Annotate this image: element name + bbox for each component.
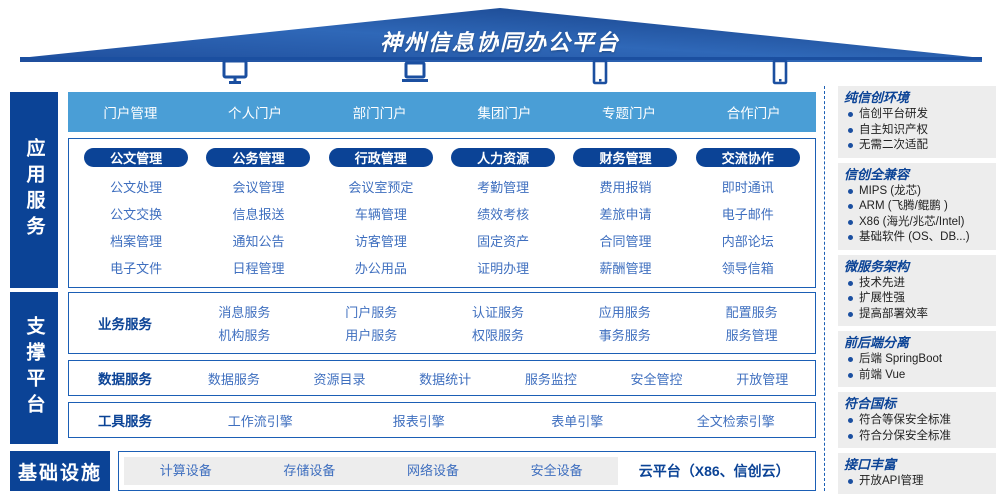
feature-item-4-1: 符合分保安全标准 <box>844 429 991 445</box>
app-item-0-0[interactable]: 公文处理 <box>110 174 162 201</box>
biz-item-0-4[interactable]: 配置服务 <box>688 302 815 321</box>
feature-card-5: 接口丰富 开放API管理 <box>838 453 996 494</box>
smartphone-icon <box>760 59 800 91</box>
app-item-3-1[interactable]: 绩效考核 <box>477 201 529 228</box>
feature-item-text: 自主知识产权 <box>859 123 928 139</box>
app-item-1-2[interactable]: 通知公告 <box>232 228 284 255</box>
data-item-0[interactable]: 数据服务 <box>181 369 287 388</box>
data-item-2[interactable]: 数据统计 <box>392 369 498 388</box>
feature-item-text: 开放API管理 <box>859 474 924 490</box>
feature-title-5: 接口丰富 <box>844 456 991 474</box>
app-item-3-3[interactable]: 证明办理 <box>477 255 529 282</box>
feature-item-text: 信创平台研发 <box>859 107 928 123</box>
app-item-3-2[interactable]: 固定资产 <box>477 228 529 255</box>
app-item-2-1[interactable]: 车辆管理 <box>355 201 407 228</box>
tool-item-3[interactable]: 全文检索引擎 <box>657 411 816 430</box>
biz-item-1-0[interactable]: 机构服务 <box>181 325 308 344</box>
biz-item-0-1[interactable]: 门户服务 <box>308 302 435 321</box>
feature-item-text: 扩展性强 <box>859 291 905 307</box>
biz-item-0-0[interactable]: 消息服务 <box>181 302 308 321</box>
bullet-icon <box>848 128 853 133</box>
device-icon-row <box>85 59 815 91</box>
infra-cloud-platform[interactable]: 云平台（X86、信创云） <box>618 457 810 485</box>
data-item-4[interactable]: 安全管控 <box>604 369 710 388</box>
feature-card-1: 信创全兼容 MIPS (龙芯) ARM (飞腾/鲲鹏 ) X86 (海光/兆芯/… <box>838 163 996 250</box>
app-item-2-0[interactable]: 会议室预定 <box>348 174 413 201</box>
feature-title-0: 纯信创环境 <box>844 89 991 107</box>
business-services-label: 业务服务 <box>69 313 181 333</box>
infrastructure-panel: 计算设备 存储设备 网络设备 安全设备 云平台（X86、信创云） <box>118 451 816 491</box>
portal-item-3[interactable]: 集团门户 <box>442 102 567 122</box>
app-category-header-5[interactable]: 交流协作 <box>696 148 800 167</box>
layer-label-infrastructure: 基础设施 <box>10 451 110 491</box>
feature-item-text: 提高部署效率 <box>859 307 928 323</box>
app-category-0: 公文管理 公文处理 公文交换 档案管理 电子文件 <box>75 148 197 281</box>
app-category-header-1[interactable]: 公务管理 <box>206 148 310 167</box>
infra-item-3[interactable]: 安全设备 <box>495 457 619 485</box>
feature-item-2-1: 扩展性强 <box>844 291 991 307</box>
biz-item-1-2[interactable]: 权限服务 <box>435 325 562 344</box>
feature-item-2-0: 技术先进 <box>844 276 991 292</box>
app-item-5-0[interactable]: 即时通讯 <box>722 174 774 201</box>
feature-card-0: 纯信创环境 信创平台研发 自主知识产权 无需二次适配 <box>838 86 996 158</box>
header-banner: 神州信息协同办公平台 <box>0 0 1000 62</box>
app-item-2-2[interactable]: 访客管理 <box>355 228 407 255</box>
portal-item-0[interactable]: 门户管理 <box>68 102 193 122</box>
feature-item-text: 后端 SpringBoot <box>859 352 942 368</box>
infra-item-0[interactable]: 计算设备 <box>124 457 248 485</box>
app-item-4-0[interactable]: 费用报销 <box>599 174 651 201</box>
feature-item-2-2: 提高部署效率 <box>844 307 991 323</box>
application-services-panel: 公文管理 公文处理 公文交换 档案管理 电子文件 公务管理 会议管理 信息报送 … <box>68 138 816 288</box>
biz-item-0-2[interactable]: 认证服务 <box>435 302 562 321</box>
app-item-1-0[interactable]: 会议管理 <box>232 174 284 201</box>
data-services-label: 数据服务 <box>69 368 181 388</box>
vertical-dashed-divider <box>824 86 825 491</box>
app-category-header-4[interactable]: 财务管理 <box>573 148 677 167</box>
feature-item-1-1: ARM (飞腾/鲲鹏 ) <box>844 199 991 215</box>
bullet-icon <box>848 418 853 423</box>
app-item-3-0[interactable]: 考勤管理 <box>477 174 529 201</box>
bullet-icon <box>848 143 853 148</box>
layer-label-support-platform: 支撑平台 <box>10 292 58 444</box>
bullet-icon <box>848 434 853 439</box>
app-item-0-1[interactable]: 公文交换 <box>110 201 162 228</box>
portal-item-1[interactable]: 个人门户 <box>193 102 318 122</box>
app-item-2-3[interactable]: 办公用品 <box>355 255 407 282</box>
app-category-header-2[interactable]: 行政管理 <box>329 148 433 167</box>
app-category-2: 行政管理 会议室预定 车辆管理 访客管理 办公用品 <box>320 148 442 281</box>
feature-item-0-1: 自主知识产权 <box>844 123 991 139</box>
portal-bar: 门户管理 个人门户 部门门户 集团门户 专题门户 合作门户 <box>68 92 816 132</box>
feature-item-1-2: X86 (海光/兆芯/Intel) <box>844 215 991 231</box>
tool-item-2[interactable]: 表单引擎 <box>498 411 657 430</box>
tablet-icon <box>580 59 620 91</box>
feature-item-text: 无需二次适配 <box>859 138 928 154</box>
app-category-header-3[interactable]: 人力资源 <box>451 148 555 167</box>
data-item-3[interactable]: 服务监控 <box>498 369 604 388</box>
data-item-5[interactable]: 开放管理 <box>709 369 815 388</box>
bullet-icon <box>848 479 853 484</box>
feature-item-text: 符合等保安全标准 <box>859 413 951 429</box>
data-services-row: 数据服务 数据服务 资源目录 数据统计 服务监控 安全管控 开放管理 <box>68 360 816 396</box>
app-item-5-3[interactable]: 领导信箱 <box>722 255 774 282</box>
feature-highlights-sidebar: 纯信创环境 信创平台研发 自主知识产权 无需二次适配 信创全兼容 MIPS (龙… <box>838 86 996 494</box>
app-category-5: 交流协作 即时通讯 电子邮件 内部论坛 领导信箱 <box>687 148 809 281</box>
portal-item-2[interactable]: 部门门户 <box>317 102 442 122</box>
feature-item-1-0: MIPS (龙芯) <box>844 184 991 200</box>
infra-item-1[interactable]: 存储设备 <box>248 457 372 485</box>
portal-item-4[interactable]: 专题门户 <box>567 102 692 122</box>
app-item-1-1[interactable]: 信息报送 <box>232 201 284 228</box>
feature-item-text: ARM (飞腾/鲲鹏 ) <box>859 199 948 215</box>
app-category-1: 公务管理 会议管理 信息报送 通知公告 日程管理 <box>197 148 319 281</box>
feature-item-text: 技术先进 <box>859 276 905 292</box>
app-item-0-3[interactable]: 电子文件 <box>110 255 162 282</box>
app-item-1-3[interactable]: 日程管理 <box>232 255 284 282</box>
feature-item-3-1: 前端 Vue <box>844 368 991 384</box>
biz-item-1-1[interactable]: 用户服务 <box>308 325 435 344</box>
page-title: 神州信息协同办公平台 <box>0 25 1000 57</box>
tool-item-1[interactable]: 报表引擎 <box>340 411 499 430</box>
feature-item-text: MIPS (龙芯) <box>859 184 921 200</box>
feature-item-text: 基础软件 (OS、DB...) <box>859 230 970 246</box>
bullet-icon <box>848 281 853 286</box>
feature-card-4: 符合国标 符合等保安全标准 符合分保安全标准 <box>838 392 996 448</box>
app-category-3: 人力资源 考勤管理 绩效考核 固定资产 证明办理 <box>442 148 564 281</box>
feature-title-4: 符合国标 <box>844 395 991 413</box>
business-services-row-2: 机构服务 用户服务 权限服务 事务服务 服务管理 <box>181 325 815 344</box>
data-item-1[interactable]: 资源目录 <box>287 369 393 388</box>
app-item-4-3[interactable]: 薪酬管理 <box>599 255 651 282</box>
feature-card-3: 前后端分离 后端 SpringBoot 前端 Vue <box>838 331 996 387</box>
tool-services-row: 工具服务 工作流引擎 报表引擎 表单引擎 全文检索引擎 <box>68 402 816 438</box>
bullet-icon <box>848 189 853 194</box>
biz-item-1-3[interactable]: 事务服务 <box>561 325 688 344</box>
feature-item-0-2: 无需二次适配 <box>844 138 991 154</box>
feature-card-2: 微服务架构 技术先进 扩展性强 提高部署效率 <box>838 255 996 327</box>
app-category-4: 财务管理 费用报销 差旅申请 合同管理 薪酬管理 <box>564 148 686 281</box>
infra-item-2[interactable]: 网络设备 <box>371 457 495 485</box>
bullet-icon <box>848 312 853 317</box>
business-services-row: 业务服务 消息服务 门户服务 认证服务 应用服务 配置服务 机构服务 用户服务 … <box>68 292 816 354</box>
desktop-monitor-icon <box>215 59 255 91</box>
layer-label-application-services: 应用服务 <box>10 92 58 288</box>
bullet-icon <box>848 373 853 378</box>
app-item-4-1[interactable]: 差旅申请 <box>599 201 651 228</box>
feature-item-4-0: 符合等保安全标准 <box>844 413 991 429</box>
laptop-icon <box>395 59 435 91</box>
bullet-icon <box>848 296 853 301</box>
tool-item-0[interactable]: 工作流引擎 <box>181 411 340 430</box>
feature-title-2: 微服务架构 <box>844 258 991 276</box>
business-services-row-1: 消息服务 门户服务 认证服务 应用服务 配置服务 <box>181 302 815 321</box>
bullet-icon <box>848 357 853 362</box>
app-item-0-2[interactable]: 档案管理 <box>110 228 162 255</box>
app-category-header-0[interactable]: 公文管理 <box>84 148 188 167</box>
portal-item-5[interactable]: 合作门户 <box>691 102 816 122</box>
feature-item-text: X86 (海光/兆芯/Intel) <box>859 215 964 231</box>
feature-title-1: 信创全兼容 <box>844 166 991 184</box>
feature-item-1-3: 基础软件 (OS、DB...) <box>844 230 991 246</box>
feature-item-text: 符合分保安全标准 <box>859 429 951 445</box>
app-item-5-2[interactable]: 内部论坛 <box>722 228 774 255</box>
bullet-icon <box>848 112 853 117</box>
bullet-icon <box>848 220 853 225</box>
feature-item-5-0: 开放API管理 <box>844 474 991 490</box>
bullet-icon <box>848 204 853 209</box>
feature-item-text: 前端 Vue <box>859 368 905 384</box>
biz-item-1-4[interactable]: 服务管理 <box>688 325 815 344</box>
bullet-icon <box>848 235 853 240</box>
app-item-4-2[interactable]: 合同管理 <box>599 228 651 255</box>
tool-services-label: 工具服务 <box>69 410 181 430</box>
feature-title-3: 前后端分离 <box>844 334 991 352</box>
biz-item-0-3[interactable]: 应用服务 <box>561 302 688 321</box>
feature-item-0-0: 信创平台研发 <box>844 107 991 123</box>
feature-item-3-0: 后端 SpringBoot <box>844 352 991 368</box>
app-item-5-1[interactable]: 电子邮件 <box>722 201 774 228</box>
